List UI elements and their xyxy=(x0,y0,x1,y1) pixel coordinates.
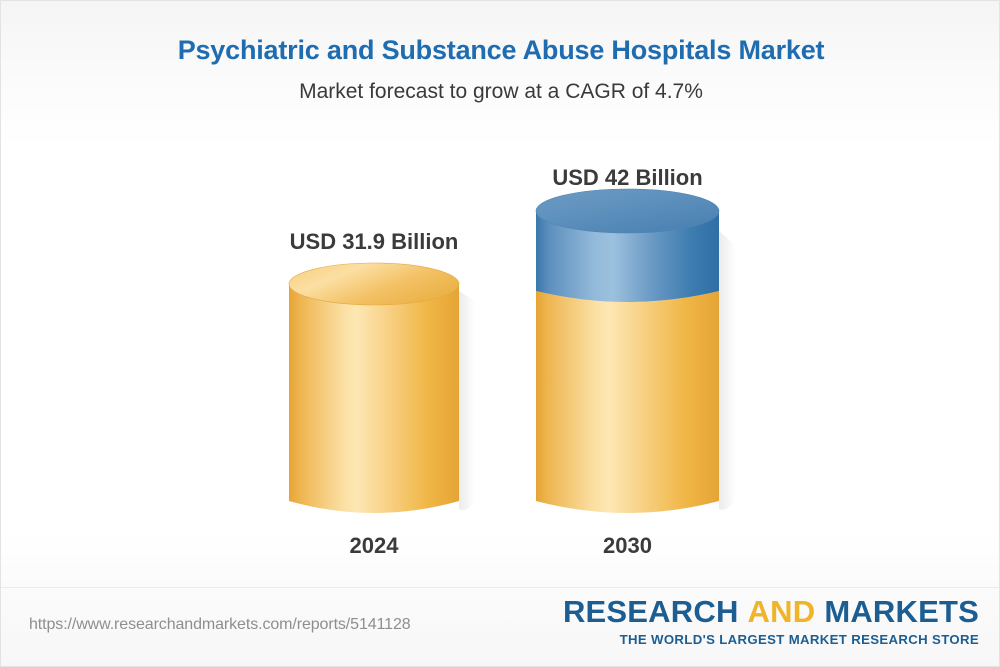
chart-card: Psychiatric and Substance Abuse Hospital… xyxy=(0,0,1000,667)
cylinder-shadow-2024 xyxy=(459,291,475,510)
logo-word-and: AND xyxy=(748,594,816,629)
chart-footer: https://www.researchandmarkets.com/repor… xyxy=(1,587,1000,666)
research-and-markets-logo[interactable]: RESEARCHANDMARKETS THE WORLD'S LARGEST M… xyxy=(563,596,979,647)
logo-word-markets: MARKETS xyxy=(824,594,979,629)
cylinder-shadow-2030 xyxy=(719,231,736,510)
bar-category-label-2024: 2024 xyxy=(289,533,459,559)
logo-wordmark: RESEARCHANDMARKETS xyxy=(563,596,979,629)
cylinder-2024[interactable] xyxy=(289,1,479,591)
cylinder-top-2024 xyxy=(289,263,459,305)
cylinder-top-2030 xyxy=(536,189,719,233)
cylinder-body-2024 xyxy=(289,284,459,513)
bar-group-2024: USD 31.9 Billion xyxy=(289,1,459,591)
logo-tagline: THE WORLD'S LARGEST MARKET RESEARCH STOR… xyxy=(563,632,979,647)
plot-area: USD 31.9 Billion xyxy=(1,1,1000,591)
cylinder-segment-base-2030 xyxy=(536,291,719,513)
logo-word-research: RESEARCH xyxy=(563,594,739,629)
cylinder-2030[interactable] xyxy=(536,1,741,591)
bar-group-2030: USD 42 Billion xyxy=(536,1,719,591)
bar-category-label-2030: 2030 xyxy=(536,533,719,559)
report-url-link[interactable]: https://www.researchandmarkets.com/repor… xyxy=(29,616,411,634)
